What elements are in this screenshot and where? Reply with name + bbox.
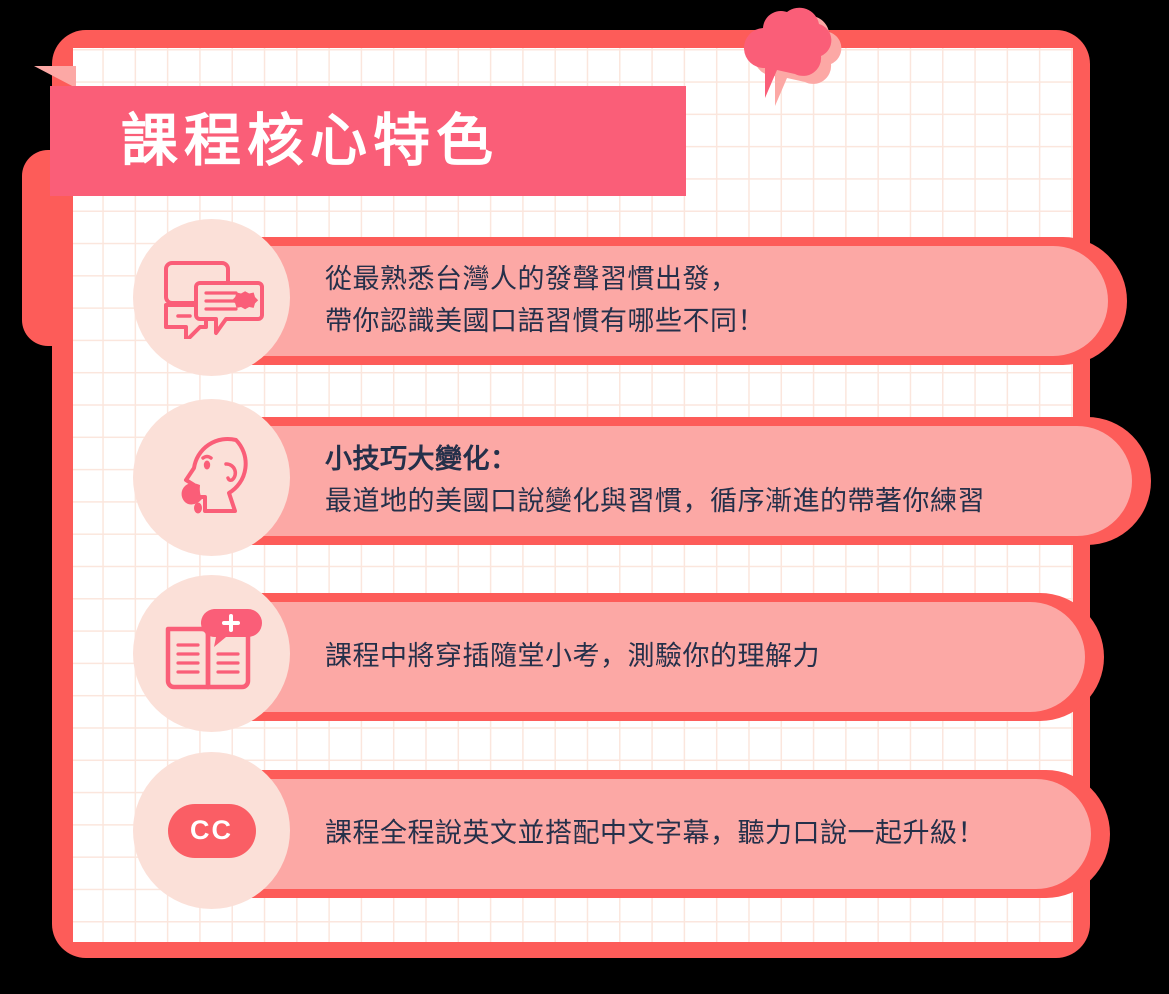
row-text: 小技巧大變化： 最道地的美國口說變化與習慣，循序漸進的帶著你練習 (325, 426, 985, 536)
page-title-ribbon: 課程核心特色 (50, 86, 686, 196)
row-text: 課程中將穿插隨堂小考，測驗你的理解力 (325, 602, 820, 712)
row-line: 最道地的美國口說變化與習慣，循序漸進的帶著你練習 (325, 481, 985, 523)
cc-badge: CC (168, 804, 256, 858)
closed-caption-icon: CC (133, 752, 290, 909)
open-book-plus-icon (133, 575, 290, 732)
row-line: 課程中將穿插隨堂小考，測驗你的理解力 (325, 636, 820, 678)
speech-bubbles-icon (133, 219, 290, 376)
page-title: 課程核心特色 (121, 113, 499, 170)
row-line: 帶你認識美國口語習慣有哪些不同！ (325, 301, 765, 343)
speech-cloud-decoration (735, 0, 845, 108)
speech-cloud-icon (735, 0, 835, 106)
row-text: 課程全程說英文並搭配中文字幕，聽力口說一起升級！ (325, 779, 985, 889)
row-line: 課程全程說英文並搭配中文字幕，聽力口說一起升級！ (325, 813, 985, 855)
row-text: 從最熟悉台灣人的發聲習慣出發， 帶你認識美國口語習慣有哪些不同！ (325, 246, 765, 356)
row-line: 從最熟悉台灣人的發聲習慣出發， (325, 259, 765, 301)
row-heading: 小技巧大變化： (325, 439, 985, 481)
speaking-head-icon (133, 399, 290, 556)
